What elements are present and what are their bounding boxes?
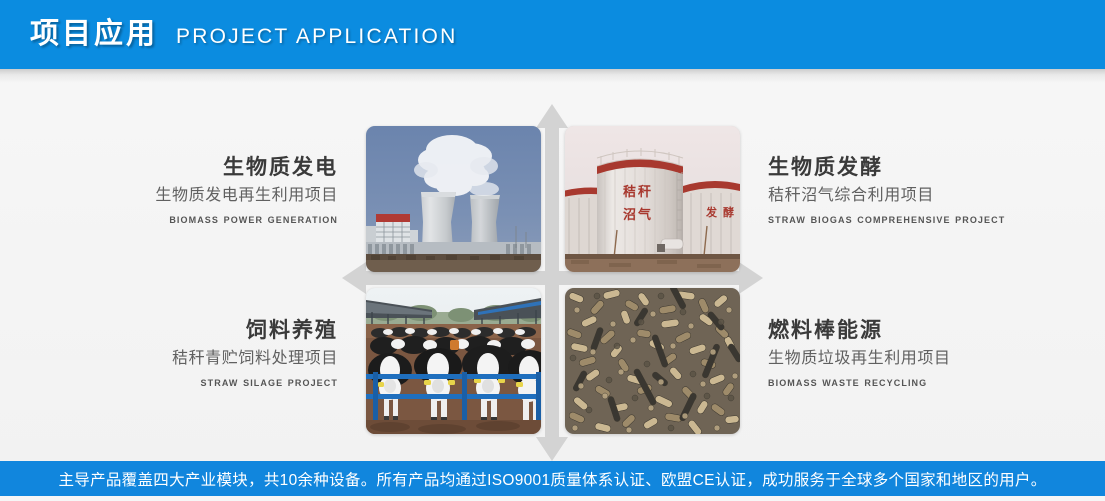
image-power-plant-cooling-towers[interactable]: [366, 126, 541, 272]
quadrant-title-cn-2: 饲料养殖: [60, 318, 338, 344]
quadrant-subtitle-cn-2: 秸秆青贮饲料处理项目: [60, 347, 338, 370]
image-dairy-cattle-feedlot[interactable]: [366, 288, 541, 434]
arrow-vertical-shaft: [545, 190, 559, 375]
svg-text:发: 发: [705, 205, 718, 219]
quadrant-text-biomass-power-generation: 生物质发电 生物质发电再生利用项目 Biomass power generati…: [60, 155, 338, 229]
page-title-en: PROJECT APPLICATION: [176, 26, 457, 47]
quadrant-title-cn-3: 燃料棒能源: [768, 318, 1068, 344]
quadrant-title-en-2: Straw silage project: [60, 373, 338, 392]
quadrant-title-en-3: Biomass waste recycling: [768, 373, 1068, 392]
svg-text:秆: 秆: [638, 185, 651, 200]
quadrant-text-biomass-fermentation: 生物质发酵 秸秆沼气综合利用项目 Straw biogas comprehens…: [768, 155, 1068, 229]
image-biomass-fuel-pellets[interactable]: [565, 288, 740, 434]
svg-text:气: 气: [638, 207, 651, 223]
quadrant-subtitle-cn-1: 秸秆沼气综合利用项目: [768, 184, 1068, 207]
svg-text:酵: 酵: [723, 205, 734, 219]
svg-text:沼: 沼: [623, 208, 636, 223]
quadrant-text-feed-breeding: 饲料养殖 秸秆青贮饲料处理项目 Straw silage project: [60, 318, 338, 392]
quadrant-subtitle-cn-3: 生物质垃圾再生利用项目: [768, 347, 1068, 370]
project-application-page: 项目应用 PROJECT APPLICATION: [0, 0, 1105, 496]
footer-text: 主导产品覆盖四大产业模块，共10余种设备。所有产品均通过ISO9001质量体系认…: [58, 468, 1046, 490]
image-biogas-storage-tanks[interactable]: 发 酵 秸: [565, 126, 740, 272]
quadrant-subtitle-cn-0: 生物质发电再生利用项目: [60, 184, 338, 207]
quadrant-title-en-1: Straw biogas comprehensive project: [768, 210, 1068, 229]
arrow-horizontal-shaft: [430, 271, 675, 285]
quadrant-title-cn-1: 生物质发酵: [768, 155, 1068, 181]
quadrant-title-cn-0: 生物质发电: [60, 155, 338, 181]
quadrant-arrow-cross: [0, 0, 1105, 496]
quadrant-text-fuel-rod-energy: 燃料棒能源 生物质垃圾再生利用项目 Biomass waste recyclin…: [768, 318, 1068, 392]
quadrant-title-en-0: Biomass power generation: [60, 210, 338, 229]
page-header: 项目应用 PROJECT APPLICATION: [0, 0, 1105, 69]
page-title-cn: 项目应用: [30, 20, 158, 49]
footer-banner: 主导产品覆盖四大产业模块，共10余种设备。所有产品均通过ISO9001质量体系认…: [0, 461, 1105, 496]
svg-text:秸: 秸: [623, 184, 636, 200]
